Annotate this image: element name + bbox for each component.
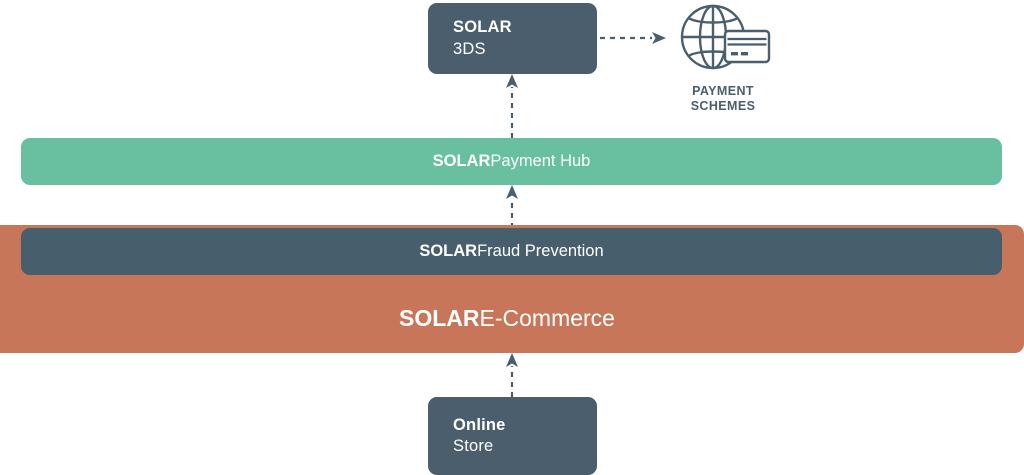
bar-ecommerce-name: E-Commerce — [480, 305, 615, 332]
bar-payment-hub-brand: SOLAR — [433, 152, 491, 171]
node-solar-3ds[interactable]: SOLAR 3DS — [428, 3, 597, 74]
bar-payment-hub-name: Payment Hub — [490, 152, 590, 171]
globe-credit-card-icon — [675, 4, 771, 79]
node-online-store[interactable]: Online Store — [428, 397, 597, 475]
node-online-store-line1: Online — [453, 415, 597, 436]
payment-schemes-group: PAYMENT SCHEMES — [663, 4, 783, 114]
bar-solar-payment-hub[interactable]: SOLAR Payment Hub — [21, 138, 1002, 185]
bar-fraud-brand: SOLAR — [419, 242, 477, 261]
payment-schemes-label-line2: SCHEMES — [691, 99, 756, 113]
connector-payment-hub-to-solar-3ds — [498, 74, 526, 138]
node-solar-3ds-line2: 3DS — [453, 39, 597, 60]
bar-fraud-name: Fraud Prevention — [477, 242, 604, 261]
node-online-store-line2: Store — [453, 436, 597, 457]
node-solar-3ds-line1: SOLAR — [453, 17, 597, 38]
connector-solar-3ds-to-payment-schemes — [600, 30, 666, 46]
connector-fraud-prevention-to-payment-hub — [498, 185, 526, 228]
payment-schemes-label-line1: PAYMENT — [692, 84, 754, 98]
connector-online-store-to-ecommerce — [498, 353, 526, 397]
bar-solar-fraud-prevention[interactable]: SOLAR Fraud Prevention — [21, 228, 1002, 275]
bar-ecommerce-brand: SOLAR — [399, 305, 480, 332]
payment-schemes-label: PAYMENT SCHEMES — [691, 84, 756, 114]
diagram-canvas: SOLAR 3DS — [0, 0, 1024, 470]
